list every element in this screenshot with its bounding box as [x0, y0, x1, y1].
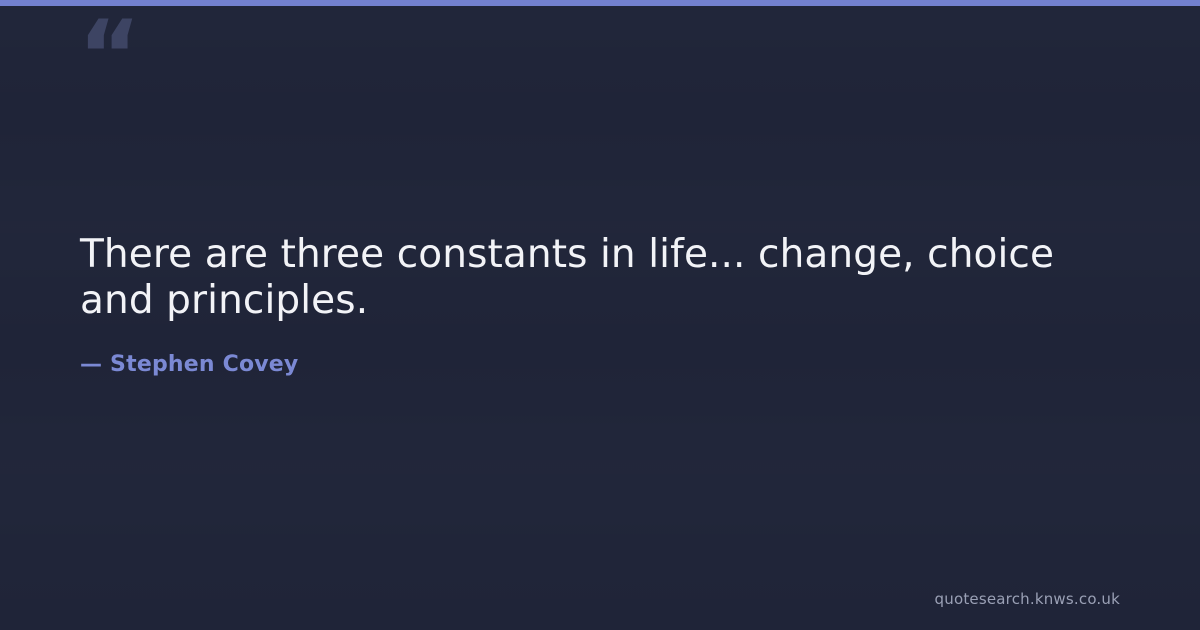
open-quote-icon: “: [78, 8, 139, 104]
quote-text: There are three constants in life... cha…: [80, 232, 1120, 324]
site-watermark: quotesearch.knws.co.uk: [935, 590, 1120, 608]
quote-author: — Stephen Covey: [80, 324, 1120, 378]
top-accent-bar: [0, 0, 1200, 6]
quote-block: There are three constants in life... cha…: [80, 232, 1120, 378]
quote-card: “ There are three constants in life... c…: [0, 0, 1200, 630]
